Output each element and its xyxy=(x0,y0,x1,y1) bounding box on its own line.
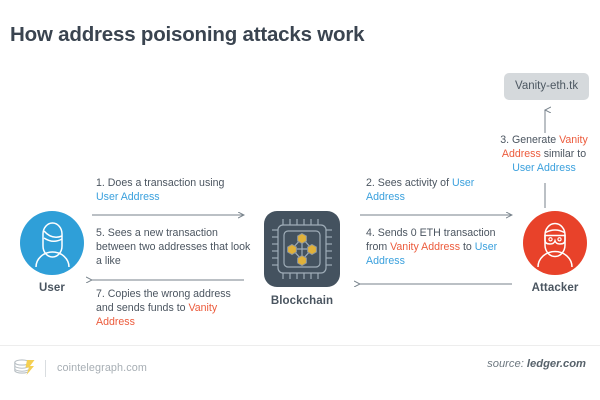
blockchain-chip-box xyxy=(264,211,340,287)
footer-divider xyxy=(0,345,600,346)
text-run: Vanity Address xyxy=(390,241,460,253)
text-run: User Address xyxy=(512,162,576,174)
source-credit: source: ledger.com xyxy=(487,358,586,370)
text-run: User Address xyxy=(96,191,160,203)
cointelegraph-logo-icon xyxy=(12,357,36,379)
masked-attacker-icon xyxy=(523,211,587,275)
node-user: User xyxy=(10,211,94,294)
step-2-text: 2. Sees activity of User Address xyxy=(366,176,514,204)
footer-brand: cointelegraph.com xyxy=(12,356,147,380)
text-run: 5. Sees a new transaction between two ad… xyxy=(96,227,250,267)
vanity-tool-label: Vanity-eth.tk xyxy=(515,80,578,92)
step-4-text: 4. Sends 0 ETH transaction from Vanity A… xyxy=(366,226,518,269)
node-blockchain: Blockchain xyxy=(252,211,352,307)
vanity-tool-box: Vanity-eth.tk xyxy=(504,73,589,100)
text-run: 1. Does a transaction using xyxy=(96,177,224,189)
attacker-avatar-circle xyxy=(523,211,587,275)
text-run: 2. Sees activity of xyxy=(366,177,452,189)
step-1-text: 1. Does a transaction using User Address xyxy=(96,176,246,204)
blockchain-chip-icon xyxy=(269,216,335,282)
step-3-text: 3. Generate Vanity Address similar to Us… xyxy=(492,133,596,176)
footer-brand-text: cointelegraph.com xyxy=(57,362,147,374)
source-prefix: source: xyxy=(487,358,527,370)
source-name: ledger.com xyxy=(527,358,586,370)
infographic-canvas: How address poisoning attacks work Vanit… xyxy=(0,0,600,400)
step-7-text: 7. Copies the wrong address and sends fu… xyxy=(96,287,246,330)
page-title: How address poisoning attacks work xyxy=(10,23,364,47)
footer-brand-divider xyxy=(45,360,46,377)
node-attacker: Attacker xyxy=(513,211,597,294)
node-user-label: User xyxy=(10,282,94,294)
step-5-text: 5. Sees a new transaction between two ad… xyxy=(96,226,252,269)
node-attacker-label: Attacker xyxy=(513,282,597,294)
node-blockchain-label: Blockchain xyxy=(252,295,352,307)
text-run: similar to xyxy=(541,148,586,160)
text-run: 3. Generate xyxy=(500,134,559,146)
user-avatar-circle xyxy=(20,211,84,275)
user-avatar-icon xyxy=(20,211,84,275)
text-run: to xyxy=(460,241,475,253)
